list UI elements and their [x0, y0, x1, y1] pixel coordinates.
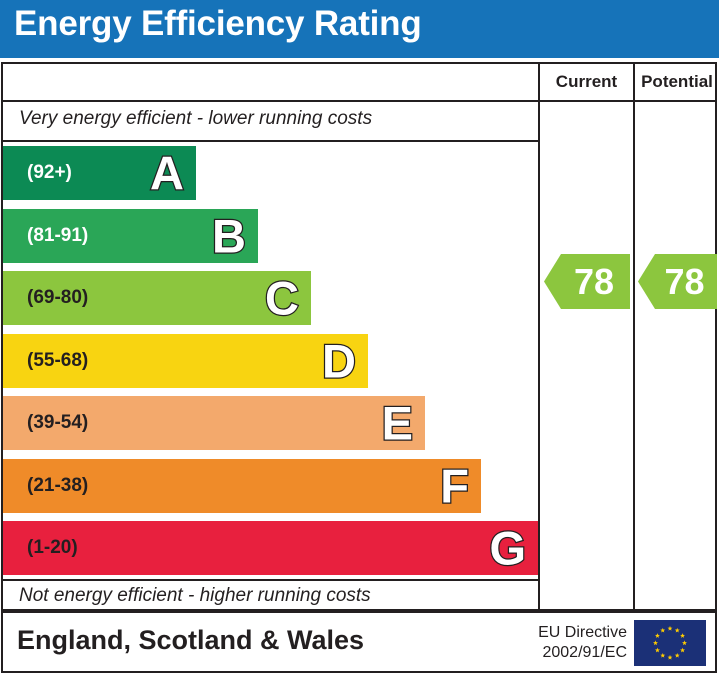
band-range-c: (69-80) [27, 287, 88, 309]
band-row-b: (81-91)B [3, 209, 258, 263]
current-rating-value: 78 [574, 264, 614, 300]
band-row-a: (92+)A [3, 146, 196, 200]
chart-title-bar: Energy Efficiency Rating [0, 0, 719, 58]
top-caption: Very energy efficient - lower running co… [19, 108, 372, 130]
band-range-f: (21-38) [27, 475, 88, 497]
potential-rating-value: 78 [664, 264, 704, 300]
bottom-caption-divider [3, 579, 538, 581]
energy-efficiency-rating-chart: Energy Efficiency Rating Current Potenti… [0, 0, 719, 675]
band-letter-f: F [440, 462, 469, 509]
column-divider-potential [633, 64, 635, 609]
chart-footer: England, Scotland & Wales EU Directive 2… [1, 611, 717, 673]
band-range-d: (55-68) [27, 350, 88, 372]
band-range-a: (92+) [27, 162, 72, 184]
band-row-e: (39-54)E [3, 396, 425, 450]
band-letter-g: G [489, 525, 526, 572]
band-letter-a: A [150, 150, 184, 197]
bottom-caption: Not energy efficient - higher running co… [19, 585, 371, 607]
column-header-current: Current [540, 64, 633, 100]
band-letter-d: D [322, 337, 356, 384]
band-row-g: (1-20)G [3, 521, 538, 575]
column-divider-current [538, 64, 540, 609]
band-letter-b: B [212, 212, 246, 259]
eu-directive-label: EU Directive 2002/91/EC [538, 623, 627, 663]
band-range-b: (81-91) [27, 225, 88, 247]
band-letter-c: C [265, 275, 299, 322]
eu-flag-icon [634, 620, 706, 666]
band-list: (92+)A(81-91)B(69-80)C(55-68)D(39-54)E(2… [3, 140, 538, 579]
header-divider [3, 100, 715, 102]
page-title: Energy Efficiency Rating [14, 4, 422, 44]
band-row-c: (69-80)C [3, 271, 311, 325]
band-range-g: (1-20) [27, 537, 78, 559]
eu-directive-line-1: EU Directive [538, 623, 627, 643]
current-rating-badge: 78 [544, 254, 630, 309]
rating-table: Current Potential Very energy efficient … [1, 62, 717, 611]
band-row-d: (55-68)D [3, 334, 368, 388]
band-range-e: (39-54) [27, 412, 88, 434]
band-row-f: (21-38)F [3, 459, 481, 513]
column-header-potential: Potential [635, 64, 719, 100]
eu-directive-line-2: 2002/91/EC [538, 643, 627, 663]
band-letter-e: E [382, 400, 413, 447]
region-label: England, Scotland & Wales [17, 625, 364, 656]
